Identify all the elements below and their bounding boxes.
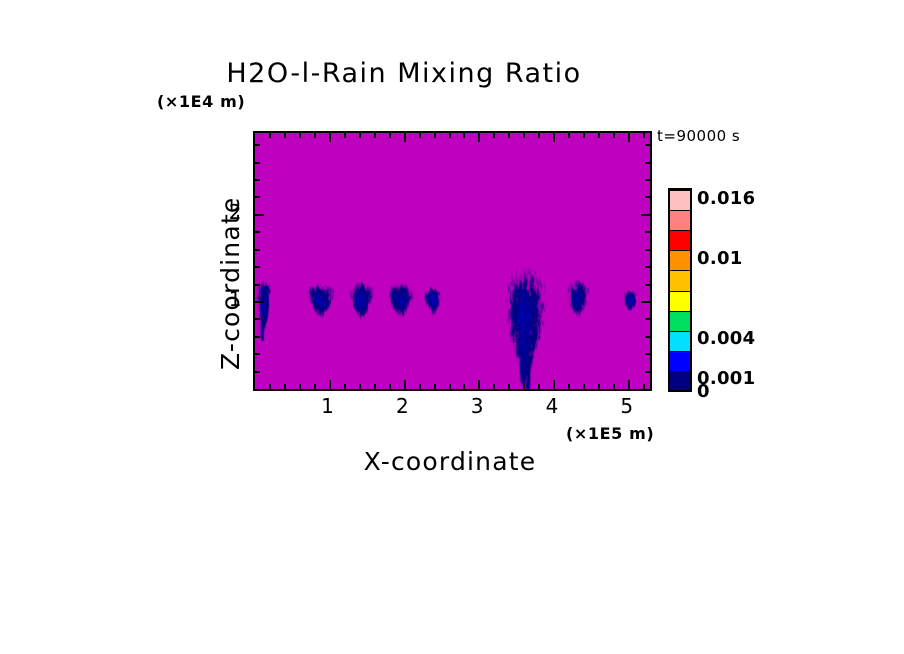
x-minor-tick-top (359, 133, 361, 138)
plot-area[interactable] (253, 131, 652, 391)
x-minor-tick-top (419, 133, 421, 138)
x-minor-tick-top (463, 133, 465, 138)
x-minor-tick (434, 384, 436, 389)
x-tick-label: 3 (457, 394, 497, 418)
x-minor-tick-top (374, 133, 376, 138)
x-major-tick (478, 380, 480, 389)
x-major-tick-top (478, 133, 480, 142)
y-minor-tick (255, 284, 260, 286)
colorbar-band-4 (670, 291, 690, 311)
x-minor-tick (523, 384, 525, 389)
x-minor-tick (449, 384, 451, 389)
x-major-tick-top (404, 133, 406, 142)
y-minor-tick (255, 266, 260, 268)
x-minor-tick (299, 384, 301, 389)
colorbar[interactable] (668, 188, 692, 392)
y-minor-tick-right (645, 284, 650, 286)
x-tick-label: 1 (308, 394, 348, 418)
y-minor-tick-right (645, 179, 650, 181)
y-minor-tick (255, 231, 260, 233)
x-major-tick-top (329, 133, 331, 142)
colorbar-tick-label: 0.016 (697, 188, 755, 209)
x-minor-tick-top (389, 133, 391, 138)
colorbar-band-7 (670, 230, 690, 250)
y-minor-tick-right (645, 196, 650, 198)
colorbar-tick-label: 0.004 (697, 328, 755, 349)
y-minor-tick (255, 196, 260, 198)
x-tick-label: 2 (383, 394, 423, 418)
y-minor-tick (255, 353, 260, 355)
y-minor-tick (255, 318, 260, 320)
x-major-tick (628, 380, 630, 389)
y-minor-tick-right (645, 336, 650, 338)
y-axis-title: Z-coordinate (216, 197, 245, 370)
y-minor-tick (255, 179, 260, 181)
y-minor-tick-right (645, 266, 650, 268)
x-minor-tick-top (284, 133, 286, 138)
y-minor-tick (255, 249, 260, 251)
x-minor-tick-top (583, 133, 585, 138)
x-minor-tick-top (508, 133, 510, 138)
x-minor-tick-top (568, 133, 570, 138)
y-minor-tick-right (645, 353, 650, 355)
colorbar-tick-label: 0 (697, 381, 710, 402)
x-minor-tick (508, 384, 510, 389)
y-major-tick (255, 301, 264, 303)
y-major-tick-right (641, 301, 650, 303)
colorbar-band-2 (670, 331, 690, 351)
x-axis-units-label: (×1E5 m) (566, 424, 654, 443)
x-major-tick (404, 380, 406, 389)
colorbar-band-1 (670, 351, 690, 371)
x-minor-tick (389, 384, 391, 389)
x-minor-tick-top (598, 133, 600, 138)
y-minor-tick-right (645, 231, 650, 233)
y-major-tick (255, 214, 264, 216)
x-minor-tick (269, 384, 271, 389)
y-minor-tick (255, 336, 260, 338)
x-minor-tick-top (643, 133, 645, 138)
x-minor-tick-top (314, 133, 316, 138)
y-minor-tick-right (645, 162, 650, 164)
x-tick-label: 4 (532, 394, 572, 418)
x-tick-label: 5 (607, 394, 647, 418)
colorbar-band-3 (670, 311, 690, 331)
x-minor-tick-top (613, 133, 615, 138)
x-minor-tick (568, 384, 570, 389)
x-minor-tick (374, 384, 376, 389)
x-major-tick-top (553, 133, 555, 142)
figure-root: H2O-l-Rain Mixing Ratio (×1E4 m) t=90000… (0, 0, 904, 654)
x-minor-tick-top (449, 133, 451, 138)
y-minor-tick (255, 371, 260, 373)
y-minor-tick-right (645, 144, 650, 146)
y-minor-tick-right (645, 318, 650, 320)
x-minor-tick (598, 384, 600, 389)
colorbar-tick-label: 0.01 (697, 248, 743, 269)
y-axis-units-label: (×1E4 m) (157, 92, 245, 111)
x-minor-tick (493, 384, 495, 389)
timestamp-label: t=90000 s (657, 127, 740, 145)
x-minor-tick-top (434, 133, 436, 138)
x-minor-tick (613, 384, 615, 389)
y-major-tick-right (641, 214, 650, 216)
x-minor-tick-top (538, 133, 540, 138)
x-minor-tick (284, 384, 286, 389)
y-minor-tick (255, 144, 260, 146)
x-minor-tick-top (523, 133, 525, 138)
x-major-tick-top (628, 133, 630, 142)
colorbar-band-9 (670, 190, 690, 210)
y-minor-tick-right (645, 249, 650, 251)
colorbar-band-0 (670, 371, 690, 390)
x-minor-tick (314, 384, 316, 389)
x-minor-tick-top (493, 133, 495, 138)
y-minor-tick (255, 162, 260, 164)
x-minor-tick (344, 384, 346, 389)
colorbar-band-8 (670, 210, 690, 230)
x-major-tick (329, 380, 331, 389)
colorbar-band-6 (670, 250, 690, 270)
x-minor-tick (463, 384, 465, 389)
heatmap-canvas (255, 133, 650, 389)
colorbar-band-5 (670, 270, 690, 290)
x-minor-tick (359, 384, 361, 389)
x-minor-tick-top (269, 133, 271, 138)
x-minor-tick-top (299, 133, 301, 138)
x-minor-tick (583, 384, 585, 389)
x-major-tick (553, 380, 555, 389)
x-axis-title: X-coordinate (0, 447, 902, 476)
x-minor-tick (419, 384, 421, 389)
x-minor-tick-top (344, 133, 346, 138)
y-minor-tick-right (645, 371, 650, 373)
page-title: H2O-l-Rain Mixing Ratio (0, 58, 856, 89)
x-minor-tick (538, 384, 540, 389)
x-minor-tick (643, 384, 645, 389)
